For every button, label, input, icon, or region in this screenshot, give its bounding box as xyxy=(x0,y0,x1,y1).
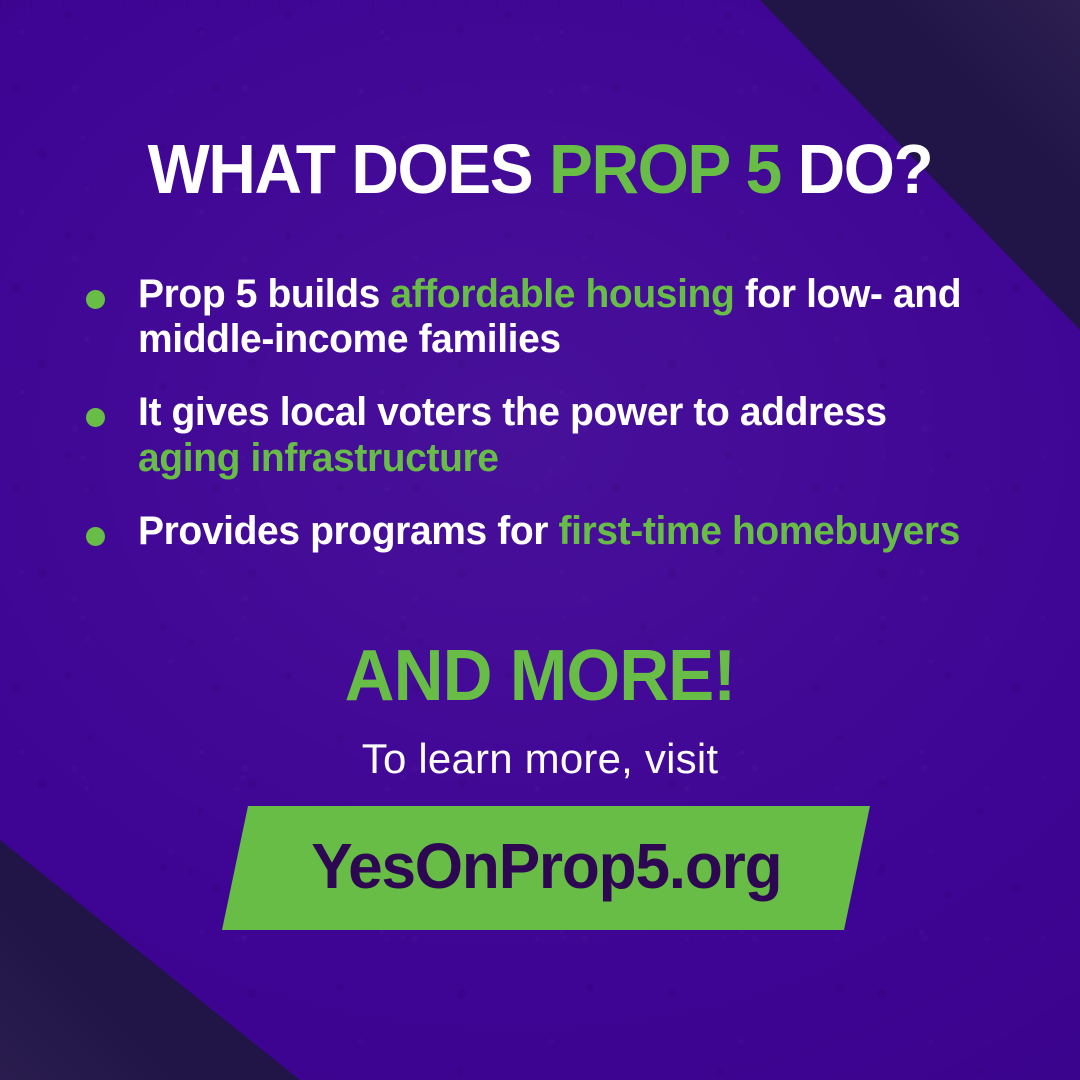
url-banner[interactable]: YesOnProp5.org xyxy=(222,806,870,930)
list-item-segment: It gives local voters the power to addre… xyxy=(138,390,887,434)
green-dot-bullet-icon xyxy=(86,408,105,427)
list-item: Prop 5 builds affordable housing for low… xyxy=(78,272,1000,362)
list-item-highlight: aging infrastructure xyxy=(138,436,499,480)
benefits-list: Prop 5 builds affordable housing for low… xyxy=(78,272,1000,554)
call-to-action-prompt: To learn more, visit xyxy=(0,738,1080,780)
list-item-segment: Prop 5 builds xyxy=(138,272,390,316)
page-title-part-1: WHAT DOES xyxy=(148,130,549,208)
poster-canvas: WHAT DOES PROP 5 DO? Prop 5 builds affor… xyxy=(0,0,1080,1080)
green-dot-bullet-icon xyxy=(86,290,105,309)
page-title-part-2: DO? xyxy=(781,130,933,208)
page-title-highlight: PROP 5 xyxy=(549,130,781,208)
list-item-highlight: first-time homebuyers xyxy=(559,509,960,553)
and-more-heading: AND MORE! xyxy=(22,640,1059,712)
list-item-text: Provides programs for first-time homebuy… xyxy=(138,509,978,554)
list-item: Provides programs for first-time homebuy… xyxy=(78,509,1000,554)
list-item: It gives local voters the power to addre… xyxy=(78,390,1000,480)
list-item-text: It gives local voters the power to addre… xyxy=(138,390,978,480)
list-item-highlight: affordable housing xyxy=(390,272,734,316)
page-title: WHAT DOES PROP 5 DO? xyxy=(32,134,1047,204)
green-dot-bullet-icon xyxy=(86,527,105,546)
list-item-text: Prop 5 builds affordable housing for low… xyxy=(138,272,978,362)
website-url[interactable]: YesOnProp5.org xyxy=(311,834,781,902)
poster-content: WHAT DOES PROP 5 DO? Prop 5 builds affor… xyxy=(0,0,1080,1080)
list-item-segment: Provides programs for xyxy=(138,509,559,553)
